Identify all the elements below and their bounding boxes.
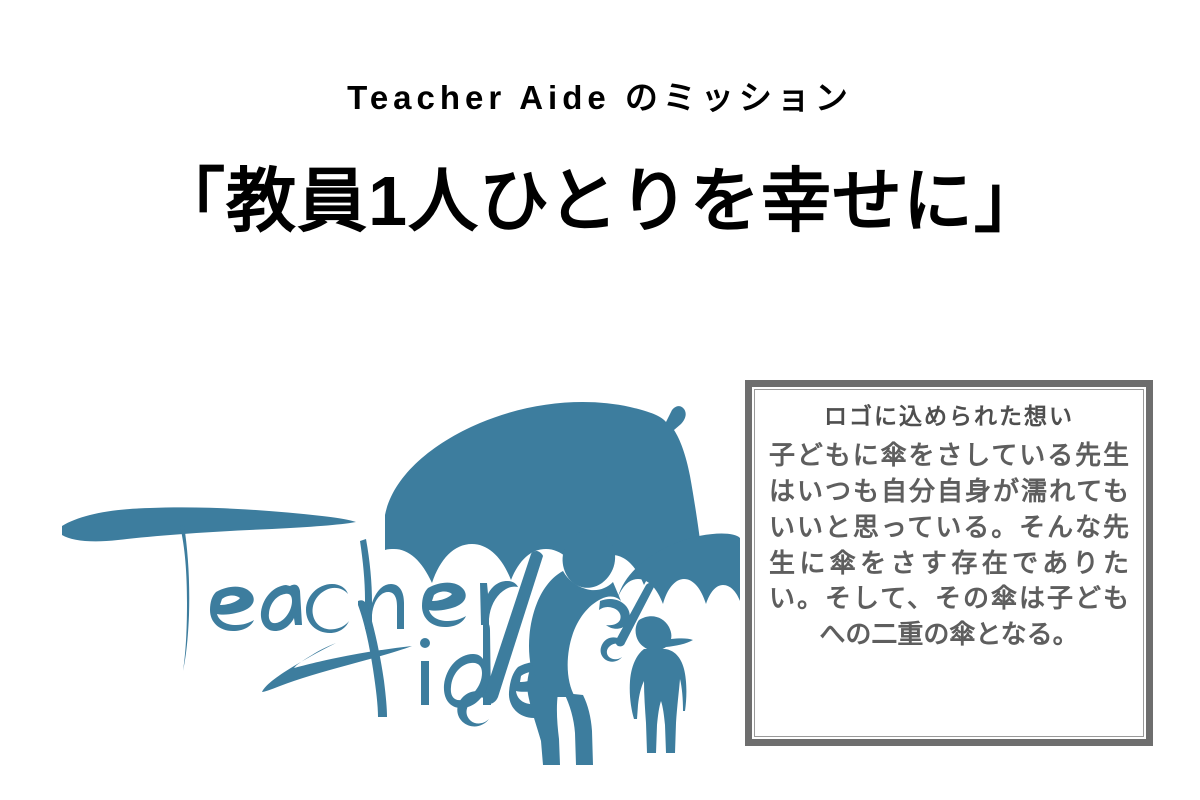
- logo-meaning-inner: ロゴに込められた想い 子どもに傘をさしている先生はいつも自分自身が濡れてもいいと…: [754, 389, 1144, 737]
- logo-meaning-body: 子どもに傘をさしている先生はいつも自分自身が濡れてもいいと思っている。そんな先生…: [769, 438, 1129, 653]
- slide-subtitle: Teacher Aide のミッション: [0, 0, 1200, 118]
- teacher-silhouette-icon: [527, 530, 629, 765]
- mission-slide: Teacher Aide のミッション 「教員1人ひとりを幸せに」: [0, 0, 1200, 800]
- logo-meaning-heading: ロゴに込められた想い: [769, 402, 1129, 432]
- mission-headline: 「教員1人ひとりを幸せに」: [0, 118, 1200, 243]
- logo-illustration-svg: [40, 375, 740, 765]
- child-silhouette-icon: [630, 616, 693, 753]
- slide-header: Teacher Aide のミッション 「教員1人ひとりを幸せに」: [0, 0, 1200, 242]
- logo-meaning-box: ロゴに込められた想い 子どもに傘をさしている先生はいつも自分自身が濡れてもいいと…: [745, 380, 1153, 746]
- teacher-aide-logo: [40, 375, 740, 765]
